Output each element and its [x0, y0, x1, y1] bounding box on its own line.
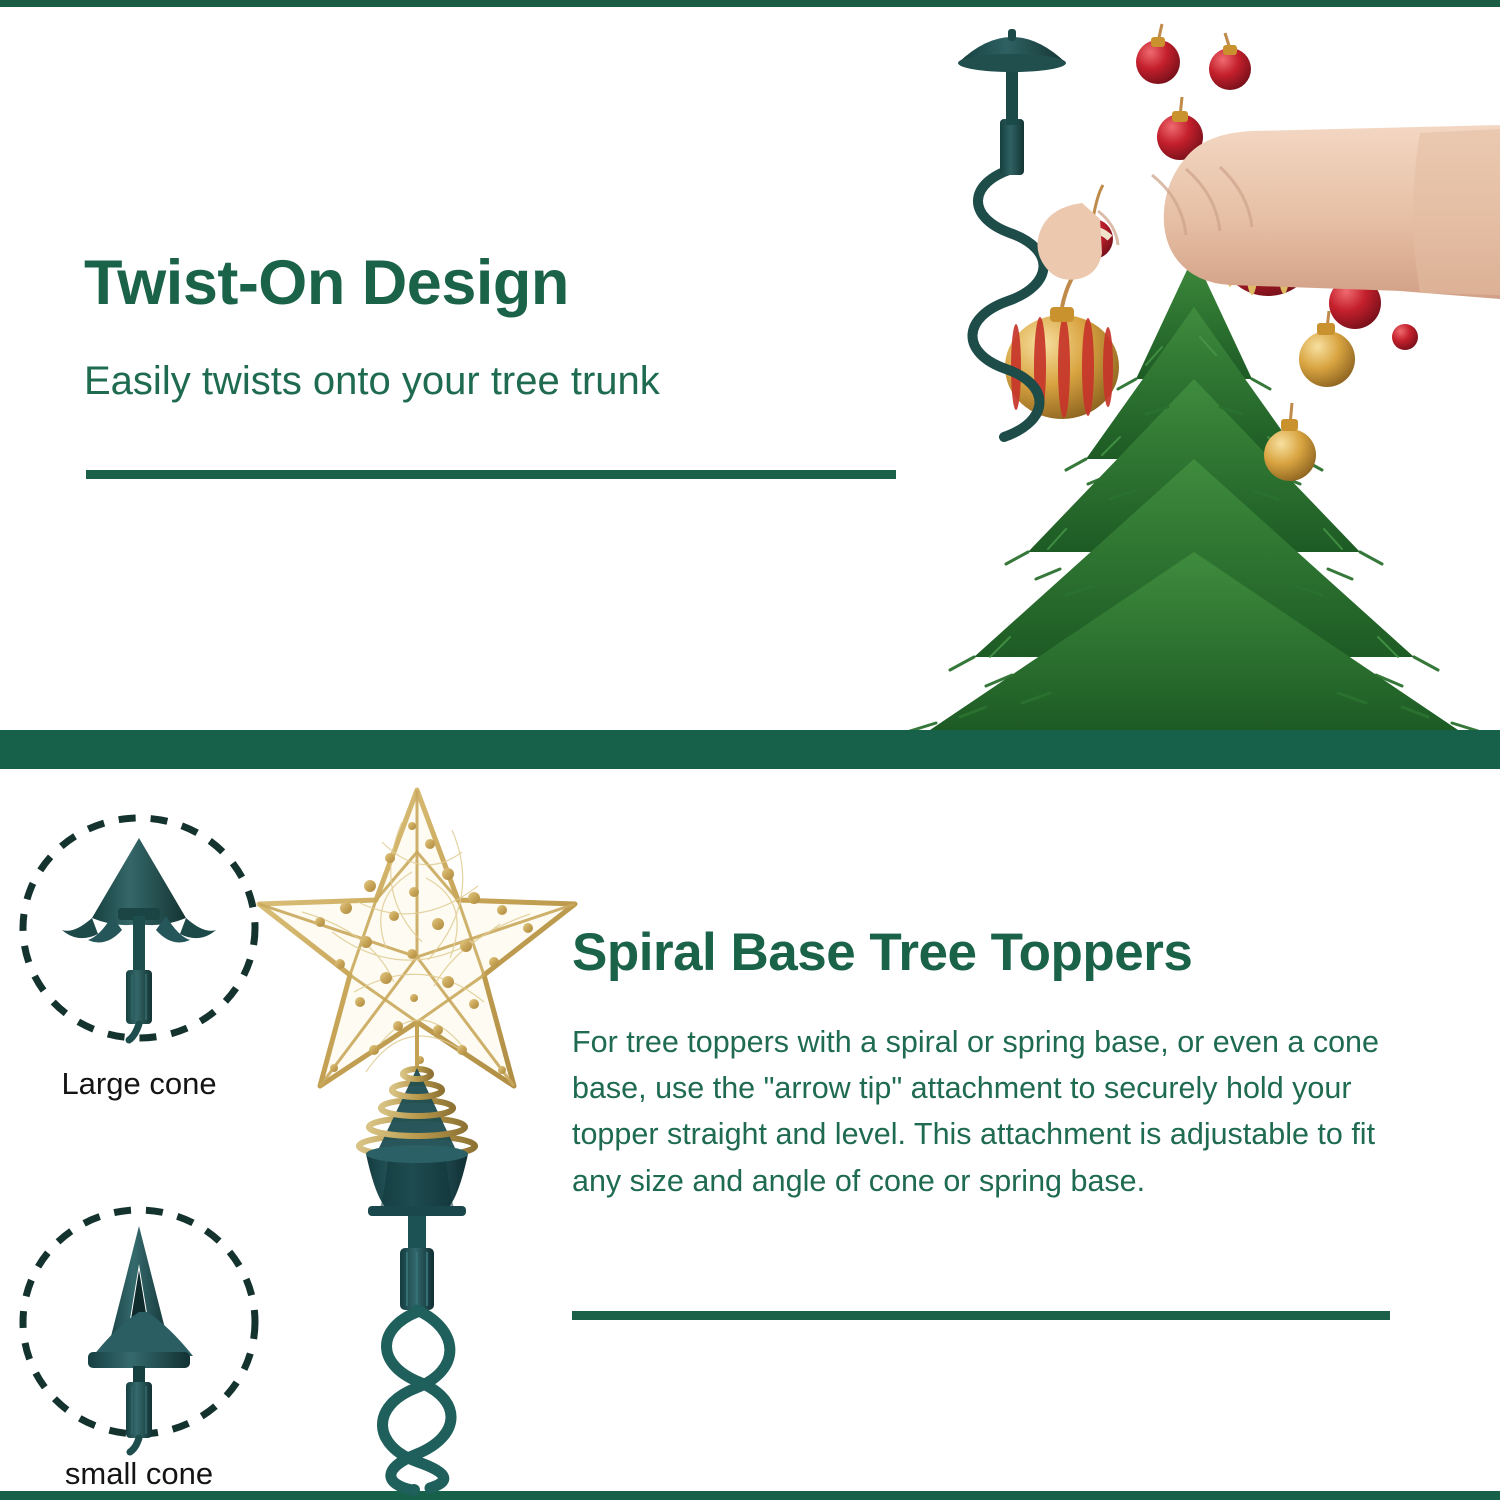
bottom-section-rule: [572, 1311, 1390, 1320]
callout-small-cone: small cone: [14, 1200, 284, 1492]
spiral-tip-ball: [408, 1484, 420, 1496]
infographic-page: Twist-On Design Easily twists onto your …: [0, 0, 1500, 1500]
page-subtitle: Easily twists onto your tree trunk: [84, 316, 924, 404]
page-title: Twist-On Design: [84, 250, 924, 316]
section-divider-bar: [0, 730, 1500, 769]
callout-large-cone: Large cone: [14, 810, 284, 1102]
ornament-gold-lower: [1264, 403, 1316, 481]
ornament-red-small-1: [1136, 24, 1180, 84]
large-cone-circle: [14, 810, 264, 1060]
star-topper-product-photo: [262, 782, 572, 1492]
top-section-rule: [86, 470, 896, 479]
section-body-text: For tree toppers with a spiral or spring…: [572, 981, 1402, 1204]
large-cone-cap-graphic: [958, 29, 1066, 175]
small-cone-label: small cone: [14, 1450, 264, 1492]
hand-graphic: [1037, 125, 1500, 299]
top-accent-bar: [0, 0, 1500, 7]
hand-spiral-tree-photo: [900, 7, 1500, 730]
spring-base-graphic: [359, 1022, 475, 1310]
christmas-tree-graphic: [910, 255, 1478, 730]
small-cone-circle: [14, 1200, 264, 1450]
bottom-accent-bar: [0, 1491, 1500, 1500]
large-cone-attachment-icon: [62, 838, 216, 1040]
ornament-red-small-2: [1209, 33, 1251, 90]
ornament-striped-orange-large: [1005, 259, 1119, 419]
small-cone-attachment-icon: [88, 1226, 193, 1452]
bottom-panel-text-block: Spiral Base Tree Toppers For tree topper…: [572, 925, 1402, 1204]
large-cone-label: Large cone: [14, 1060, 264, 1102]
ornament-red-far-right: [1392, 324, 1418, 350]
section-title: Spiral Base Tree Toppers: [572, 925, 1402, 981]
top-panel-text-block: Twist-On Design Easily twists onto your …: [84, 250, 924, 404]
